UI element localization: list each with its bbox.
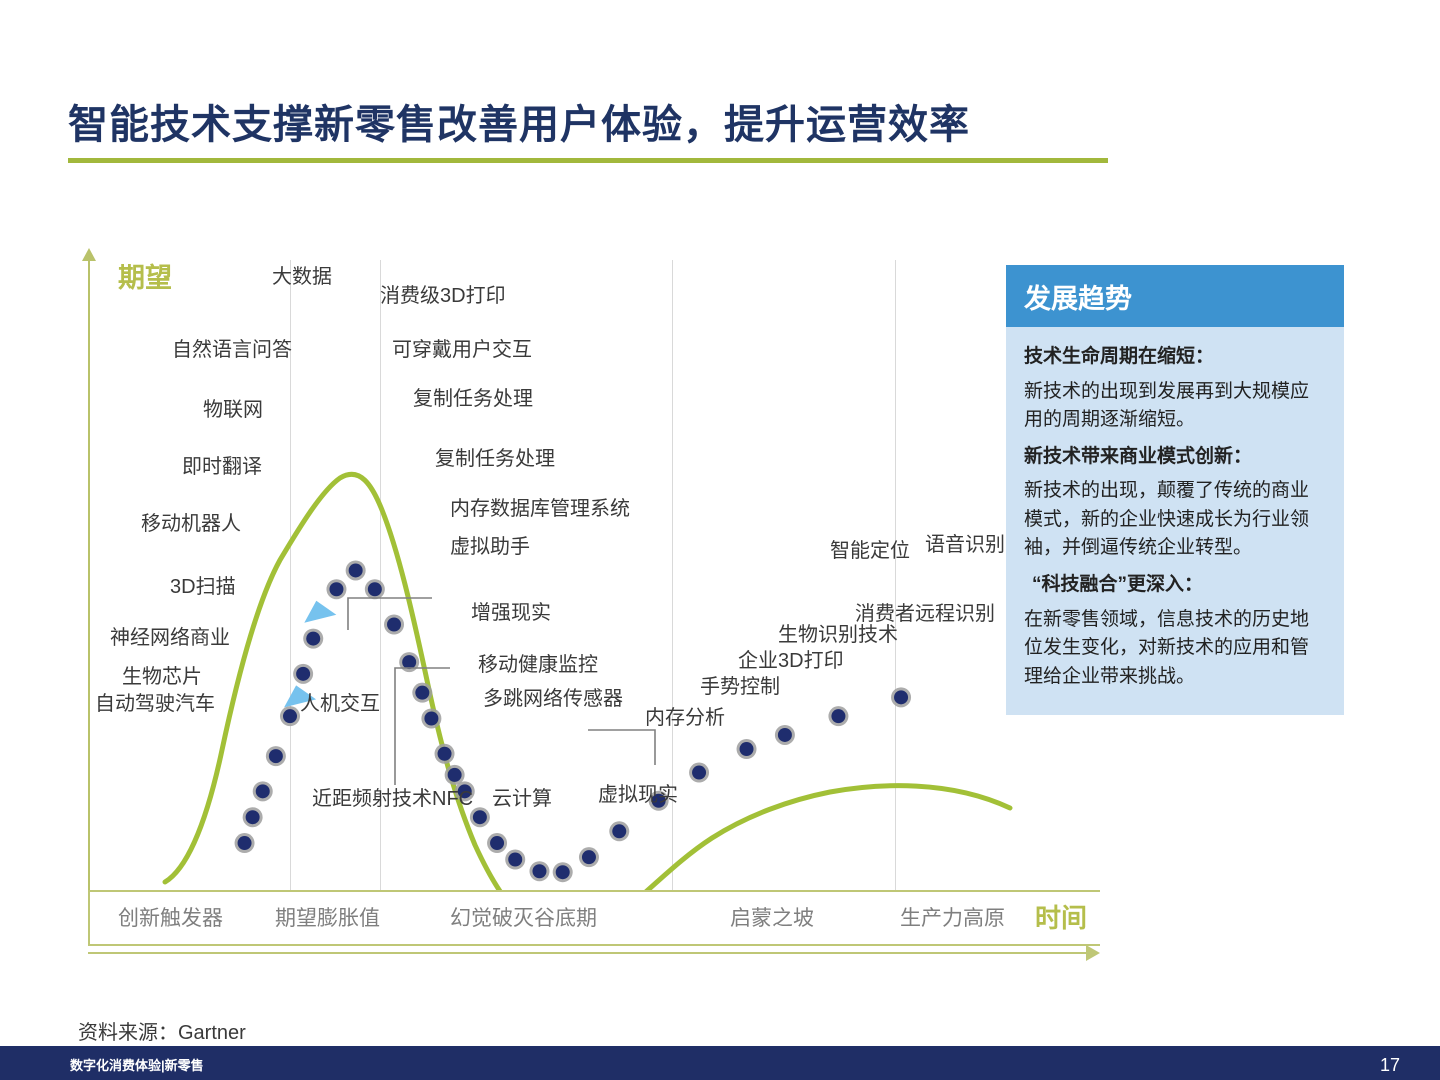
- x-tick-peak-expectations: 期望膨胀值: [275, 902, 380, 932]
- footer-bar: [0, 1046, 1440, 1080]
- trends-panel-header: 发展趋势: [1006, 265, 1344, 327]
- label-iot: 物联网: [203, 393, 263, 422]
- trends-panel: 发展趋势 技术生命周期在缩短： 新技术的出现到发展再到大规模应用的周期逐渐缩短。…: [1006, 265, 1344, 715]
- x-tick-plateau-productivity: 生产力高原: [900, 902, 1005, 932]
- label-mobile-robot: 移动机器人: [141, 507, 241, 536]
- label-mobile-health-monitor: 移动健康监控: [478, 648, 598, 677]
- label-mesh-network-sensors: 多跳网络传感器: [483, 682, 623, 711]
- page-number: 17: [1380, 1055, 1400, 1076]
- leader-line-human-interaction: [348, 598, 432, 630]
- trend-head-3: “科技融合”更深入：: [1024, 573, 1326, 598]
- trend-body-1: 新技术的出现到发展再到大规模应用的周期逐渐缩短。: [1024, 378, 1326, 435]
- label-nfc: 近距频射技术NFC: [312, 782, 473, 811]
- label-smart-positioning: 智能定位: [830, 534, 910, 563]
- label-gesture-control: 手势控制: [700, 670, 780, 699]
- trend-body-3: 在新零售领域，信息技术的历史地位发生变化，对新技术的应用和管理给企业带来挑战。: [1024, 606, 1326, 692]
- source-note: 资料来源：Gartner: [78, 1016, 246, 1045]
- label-in-memory-analytics: 内存分析: [645, 701, 725, 730]
- x-tick-trough-disillusionment: 幻觉破灭谷底期: [450, 902, 597, 932]
- label-replicated-task-1: 复制任务处理: [413, 382, 533, 411]
- footer-label: 数字化消费体验|新零售: [70, 1055, 204, 1074]
- label-cloud-computing: 云计算: [492, 782, 552, 811]
- label-consumer-remote-id: 消费者远程识别: [855, 597, 995, 626]
- label-in-memory-dbms: 内存数据库管理系统: [450, 492, 630, 521]
- label-virtual-assistant: 虚拟助手: [450, 530, 530, 559]
- x-tick-slope-enlightenment: 启蒙之坡: [730, 902, 814, 932]
- label-wearable-ui: 可穿戴用户交互: [392, 333, 532, 362]
- label-consumer-3d-printing: 消费级3D打印: [380, 279, 506, 308]
- label-replicated-task-2: 复制任务处理: [435, 442, 555, 471]
- x-axis-title: 时间: [1035, 898, 1087, 935]
- x-axis-arrow-icon: [1086, 945, 1100, 961]
- trend-head-2: 新技术带来商业模式创新：: [1024, 445, 1326, 470]
- label-instant-translation: 即时翻译: [182, 450, 262, 479]
- slide-root: 智能技术支撑新零售改善用户体验，提升运营效率 期望 创新触发器 期望膨胀值 幻觉: [0, 0, 1440, 1080]
- label-enterprise-3d-printing: 企业3D打印: [738, 644, 844, 673]
- leader-line-vr: [588, 730, 655, 765]
- x-axis-line: [88, 952, 1088, 954]
- label-speech-recognition: 语音识别: [925, 528, 1005, 557]
- label-autonomous-vehicle: 自动驾驶汽车: [95, 687, 215, 716]
- trends-panel-body: 技术生命周期在缩短： 新技术的出现到发展再到大规模应用的周期逐渐缩短。 新技术带…: [1006, 327, 1344, 711]
- hype-cycle-chart: 期望 创新触发器 期望膨胀值 幻觉破灭谷底期 启蒙之坡 生产力高原 时间 自然语…: [0, 230, 1140, 990]
- page-title: 智能技术支撑新零售改善用户体验，提升运营效率: [68, 92, 970, 150]
- x-tick-innovation-trigger: 创新触发器: [118, 902, 223, 932]
- label-big-data: 大数据: [272, 260, 332, 289]
- label-biochip: 生物芯片: [122, 660, 202, 689]
- title-underline-rule: [68, 158, 1108, 163]
- label-augmented-reality: 增强现实: [471, 596, 551, 625]
- label-natural-language-qa: 自然语言问答: [172, 333, 292, 362]
- label-3d-scanning: 3D扫描: [170, 570, 236, 599]
- trend-body-2: 新技术的出现，颠覆了传统的商业模式，新的企业快速成长为行业领袖，并倒逼传统企业转…: [1024, 477, 1326, 563]
- label-virtual-reality: 虚拟现实: [598, 778, 678, 807]
- trend-head-1: 技术生命周期在缩短：: [1024, 345, 1326, 370]
- label-neural-network-biz: 神经网络商业: [110, 621, 230, 650]
- trends-panel-title: 发展趋势: [1024, 277, 1132, 316]
- label-human-computer-interaction: 人机交互: [300, 687, 380, 716]
- leader-line-nfc: [395, 668, 450, 785]
